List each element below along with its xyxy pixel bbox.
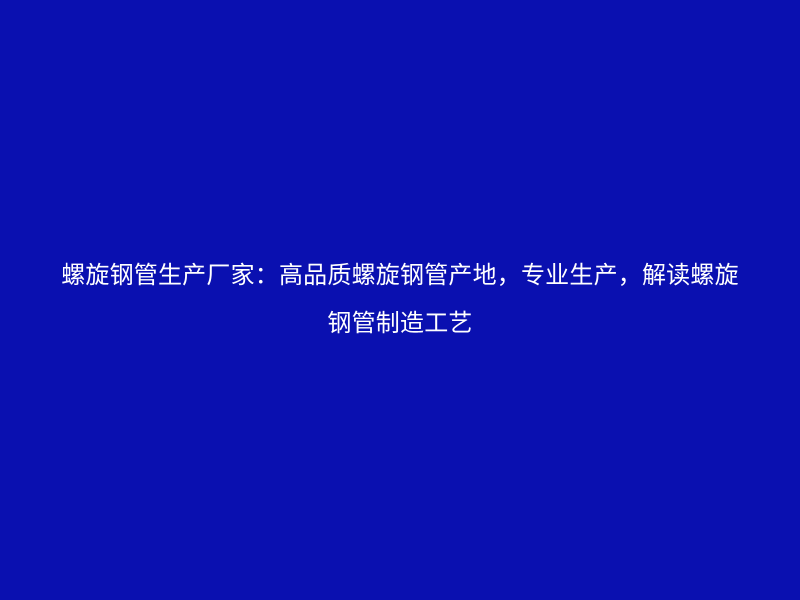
page-title: 螺旋钢管生产厂家：高品质螺旋钢管产地，专业生产，解读螺旋钢管制造工艺 <box>50 252 750 348</box>
title-block: 螺旋钢管生产厂家：高品质螺旋钢管产地，专业生产，解读螺旋钢管制造工艺 <box>50 252 750 348</box>
article-title-card: 螺旋钢管生产厂家：高品质螺旋钢管产地，专业生产，解读螺旋钢管制造工艺 <box>0 0 800 600</box>
